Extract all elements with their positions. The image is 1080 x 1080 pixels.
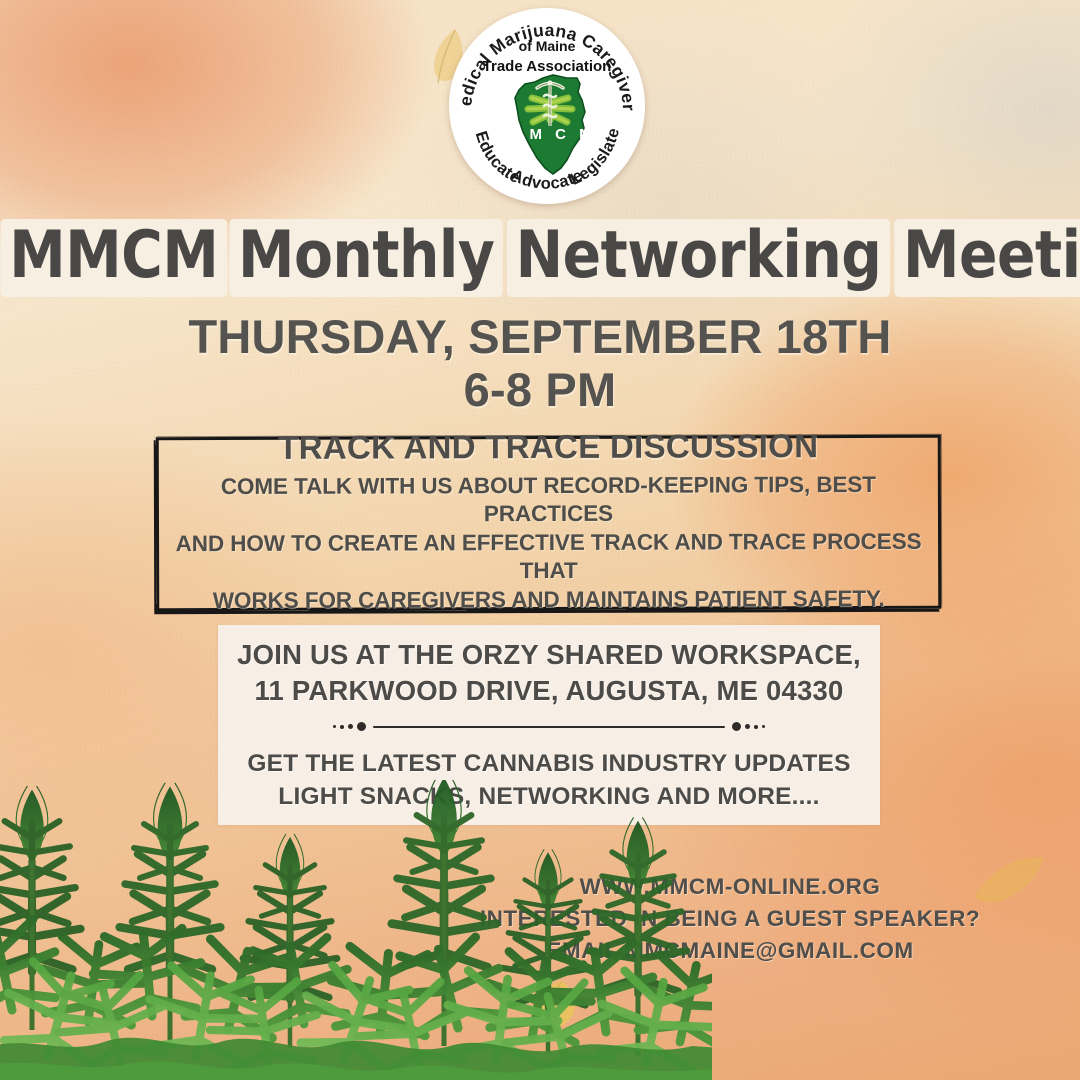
logo-state-label: M M C M	[504, 126, 596, 143]
discussion-body-line-3: WORKS FOR CAREGIVERS AND MAINTAINS PATIE…	[173, 585, 924, 616]
contact-email[interactable]: EMAIL MMCMAINE@GMAIL.COM	[460, 935, 1000, 967]
svg-text:Trade Association: Trade Association	[483, 58, 612, 75]
divider-dot	[762, 725, 765, 728]
dot-divider	[333, 722, 765, 731]
divider-dot-large	[732, 722, 741, 731]
event-date: THURSDAY, SEPTEMBER 18TH	[0, 311, 1080, 364]
title-word-4: Meeting	[896, 219, 1080, 297]
venue-perks: GET THE LATEST CANNABIS INDUSTRY UPDATES…	[247, 747, 850, 813]
discussion-body-line-2: AND HOW TO CREATE AN EFFECTIVE TRACK AND…	[173, 528, 924, 587]
website-url[interactable]: WWW.MMCM-ONLINE.ORG	[460, 871, 1000, 903]
discussion-frame: TRACK AND TRACE DISCUSSION COME TALK WIT…	[156, 435, 942, 611]
divider-dot	[333, 725, 336, 728]
divider-dot	[340, 725, 344, 729]
speaker-prompt: INTERESTED IN BEING A GUEST SPEAKER?	[460, 903, 1000, 935]
logo-seal-icon: Medical Marijuana Caregivers Educate Adv…	[449, 8, 645, 204]
venue-address-line-2: 11 PARKWOOD DRIVE, AUGUSTA, ME 04330	[237, 673, 861, 709]
venue-address-line-1: JOIN US AT THE ORZY SHARED WORKSPACE,	[237, 637, 861, 673]
divider-dot-large	[357, 722, 366, 731]
divider-dot	[348, 724, 353, 729]
title-word-3: Networking	[509, 219, 888, 297]
venue-address: JOIN US AT THE ORZY SHARED WORKSPACE, 11…	[237, 637, 861, 710]
mmcm-logo: Medical Marijuana Caregivers Educate Adv…	[449, 8, 645, 204]
discussion-body: COME TALK WITH US ABOUT RECORD-KEEPING T…	[173, 470, 924, 615]
divider-line	[373, 726, 725, 728]
contact-block: WWW.MMCM-ONLINE.ORG INTERESTED IN BEING …	[460, 871, 1000, 967]
event-datetime: THURSDAY, SEPTEMBER 18TH 6-8 PM	[0, 311, 1080, 416]
venue-card: JOIN US AT THE ORZY SHARED WORKSPACE, 11…	[218, 625, 880, 825]
event-flyer: Medical Marijuana Caregivers Educate Adv…	[0, 0, 1080, 1080]
title-word-2: Monthly	[231, 219, 501, 297]
discussion-title: TRACK AND TRACE DISCUSSION	[278, 427, 818, 467]
event-time: 6-8 PM	[0, 364, 1080, 417]
logo-container: Medical Marijuana Caregivers Educate Adv…	[449, 8, 645, 204]
page-title: MMCMMonthlyNetworkingMeeting	[0, 219, 1080, 297]
title-word-1: MMCM	[2, 219, 225, 297]
gold-leaf-decoration-bottom	[527, 978, 589, 1042]
venue-perks-line-2: LIGHT SNACKS, NETWORKING AND MORE....	[247, 780, 850, 813]
venue-perks-line-1: GET THE LATEST CANNABIS INDUSTRY UPDATES	[247, 747, 850, 780]
divider-dot	[745, 724, 750, 729]
svg-text:of Maine: of Maine	[519, 38, 576, 54]
discussion-body-line-1: COME TALK WITH US ABOUT RECORD-KEEPING T…	[173, 470, 924, 529]
divider-dot	[754, 725, 758, 729]
